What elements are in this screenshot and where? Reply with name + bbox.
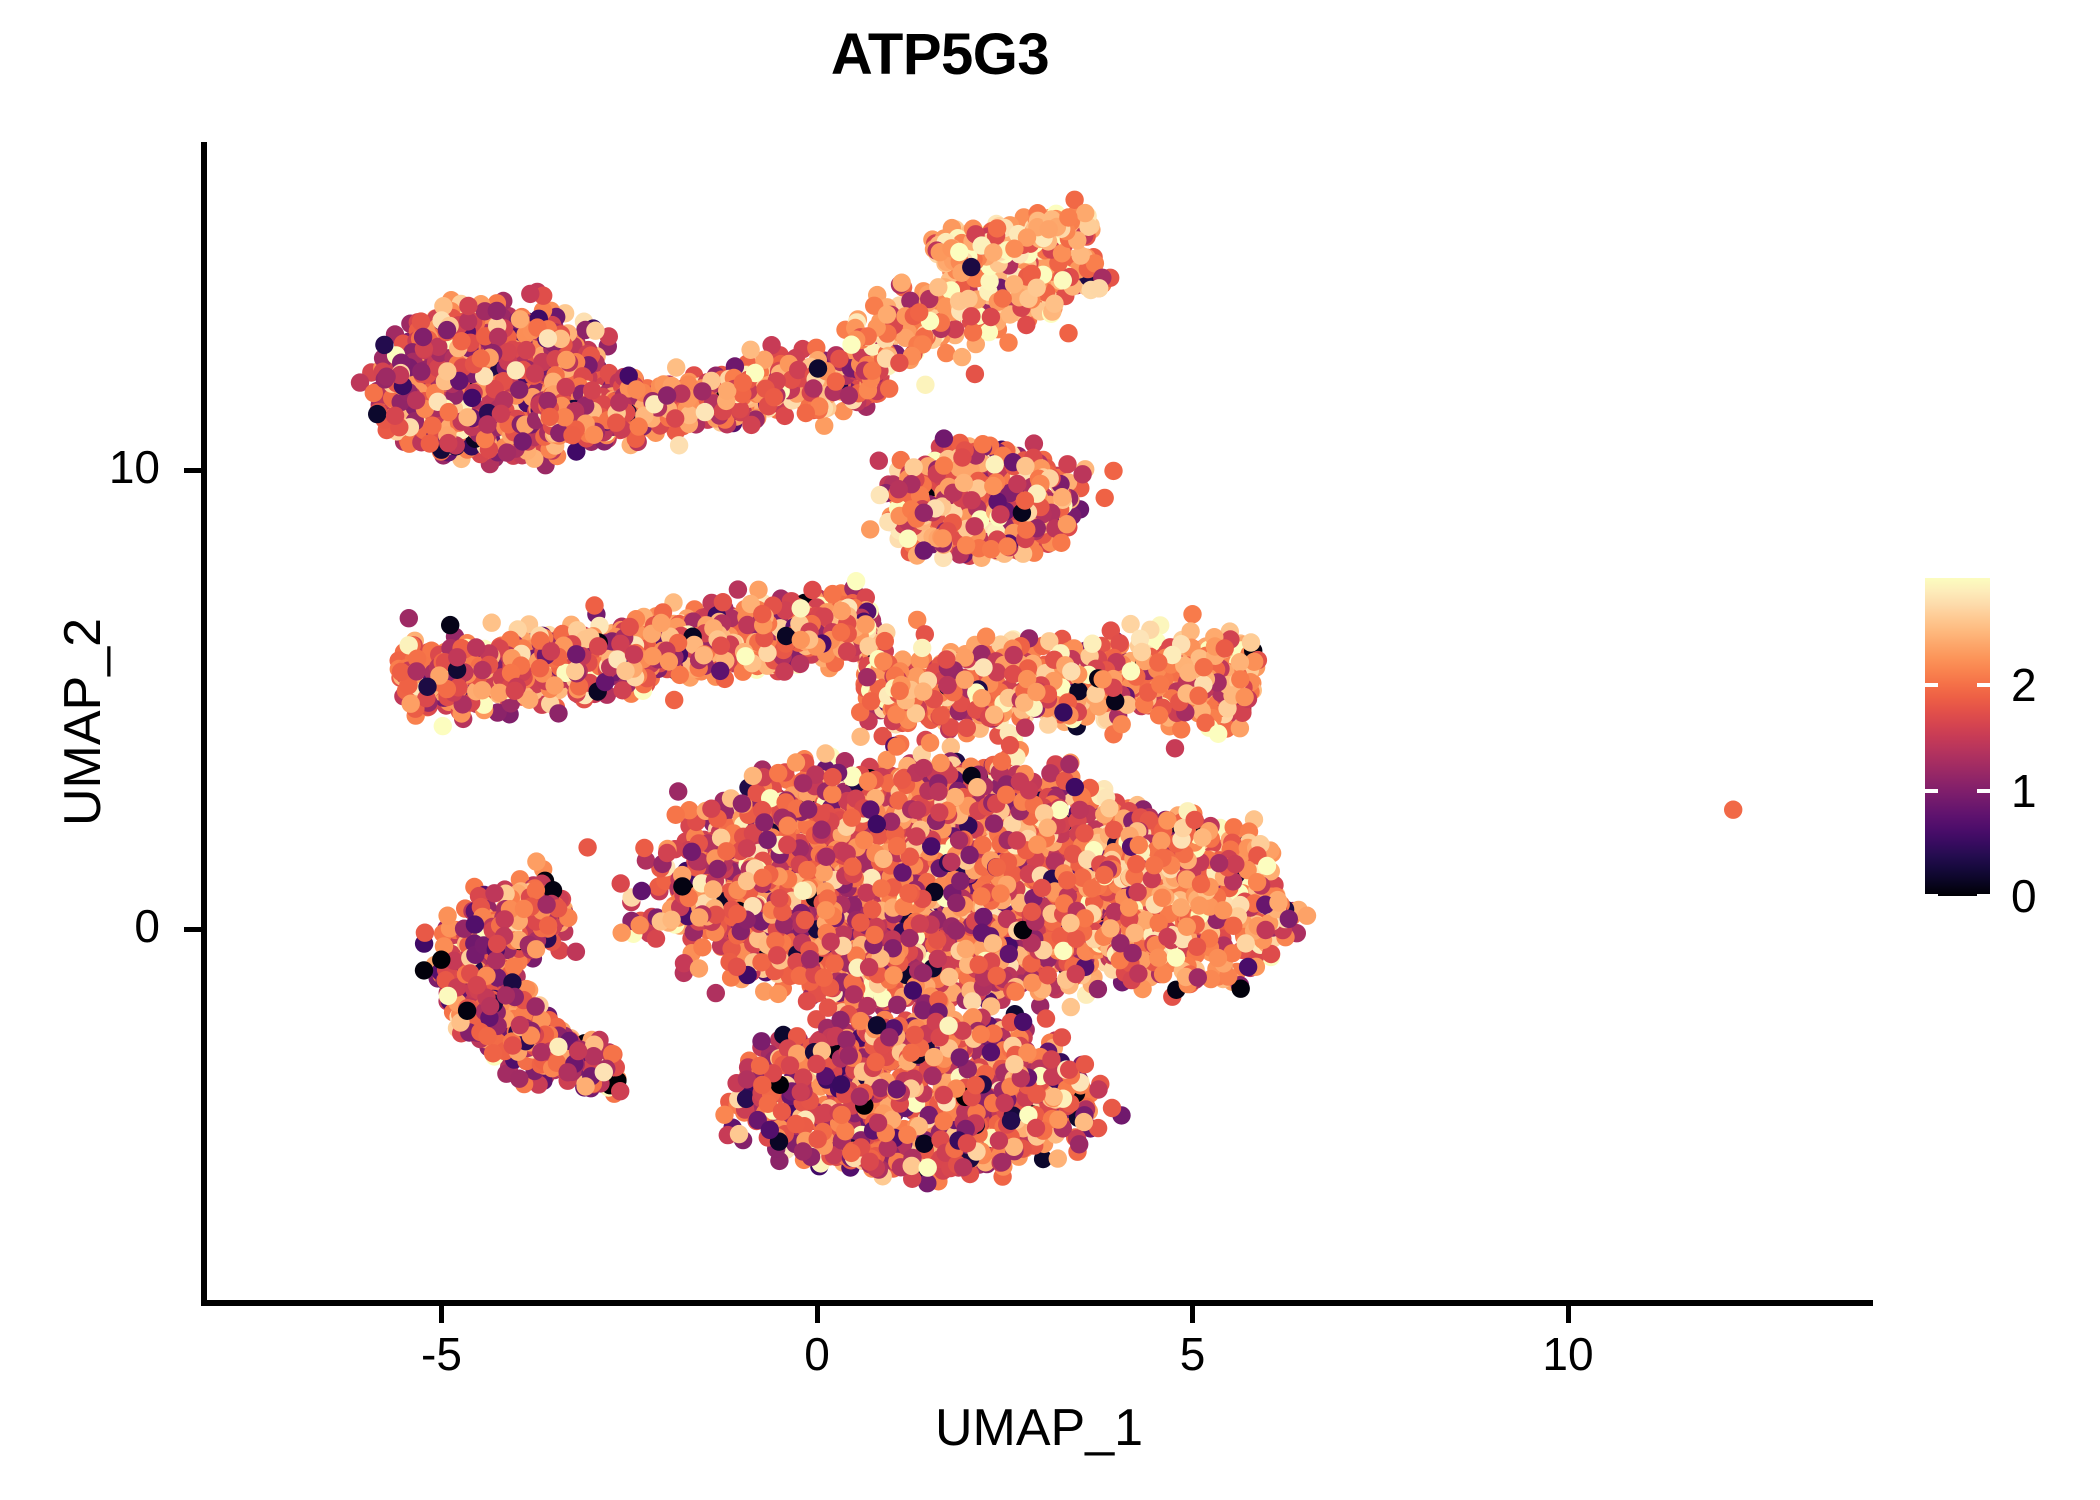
scatter-point	[741, 341, 759, 359]
scatter-point	[851, 728, 869, 746]
scatter-point	[627, 380, 645, 398]
scatter-point	[950, 243, 968, 261]
scatter-point	[514, 432, 532, 450]
scatter-point	[974, 658, 992, 676]
scatter-point	[473, 681, 491, 699]
scatter-point	[915, 541, 933, 559]
scatter-point	[871, 486, 889, 504]
scatter-point	[1094, 670, 1112, 688]
scatter-point	[1058, 455, 1076, 473]
scatter-point	[439, 434, 457, 452]
scatter-point	[789, 361, 807, 379]
scatter-point	[815, 417, 833, 435]
scatter-point	[1231, 653, 1249, 671]
scatter-point	[1235, 688, 1253, 706]
scatter-point	[832, 623, 850, 641]
scatter-point	[999, 333, 1017, 351]
scatter-point	[856, 615, 874, 633]
scatter-point	[962, 258, 980, 276]
umap-feature-plot: ATP5G3 -50510 100 UMAP_1 UMAP_2 210	[0, 0, 2100, 1500]
scatter-point	[964, 323, 982, 341]
scatter-point	[1076, 204, 1094, 222]
scatter-point	[982, 540, 1000, 558]
scatter-point	[412, 312, 430, 330]
plot-panel	[205, 142, 1873, 1303]
scatter-point	[932, 706, 950, 724]
scatter-point	[890, 480, 908, 498]
scatter-point	[643, 647, 661, 665]
scatter-point	[1058, 515, 1076, 533]
scatter-point	[905, 458, 923, 476]
scatter-point	[478, 415, 496, 433]
scatter-point	[1133, 643, 1151, 661]
scatter-point	[658, 386, 676, 404]
scatter-point	[652, 614, 670, 632]
scatter-point	[956, 671, 974, 689]
scatter-point	[876, 632, 894, 650]
scatter-point	[984, 477, 1002, 495]
scatter-point	[670, 436, 688, 454]
scatter-point	[1059, 324, 1077, 342]
scatter-point	[489, 328, 507, 346]
scatter-point	[377, 368, 395, 386]
scatter-point	[984, 243, 1002, 261]
scatter-point	[407, 391, 425, 409]
scatter-point	[375, 336, 393, 354]
scatter-point	[804, 379, 822, 397]
scatter-point	[541, 408, 559, 426]
scatter-point	[660, 652, 678, 670]
scatter-point	[729, 580, 747, 598]
scatter-point	[510, 381, 528, 399]
scatter-point	[842, 336, 860, 354]
scatter-point	[557, 378, 575, 396]
scatter-point	[467, 638, 485, 656]
scatter-point	[1027, 683, 1045, 701]
scatter-point	[847, 572, 865, 590]
scatter-point	[610, 393, 628, 411]
page-title: ATP5G3	[0, 26, 1880, 84]
scatter-point	[913, 639, 931, 657]
scatter-point	[621, 618, 639, 636]
scatter-point	[957, 536, 975, 554]
scatter-point	[441, 616, 459, 634]
scatter-point	[935, 429, 953, 447]
scatter-point	[880, 380, 898, 398]
scatter-point	[1166, 739, 1184, 757]
scatter-point	[962, 307, 980, 325]
scatter-point	[507, 361, 525, 379]
scatter-point	[988, 219, 1006, 237]
scatter-point	[589, 637, 607, 655]
scatter-point	[665, 691, 683, 709]
scatter-point	[1017, 520, 1035, 538]
scatter-point	[734, 374, 752, 392]
scatter-point	[973, 689, 991, 707]
scatter-point	[893, 274, 911, 292]
scatter-point	[498, 443, 516, 461]
scatter-point	[878, 305, 896, 323]
scatter-point	[563, 426, 581, 444]
scatter-point	[438, 362, 456, 380]
scatter-point	[1040, 220, 1058, 238]
scatter-point	[1090, 279, 1108, 297]
scatter-point	[797, 404, 815, 422]
scatter-point	[402, 695, 420, 713]
scatter-point	[1231, 670, 1249, 688]
scatter-point	[517, 341, 535, 359]
scatter-point	[1189, 687, 1207, 705]
scatter-point	[1113, 715, 1131, 733]
scatter-point	[458, 408, 476, 426]
scatter-point	[738, 616, 756, 634]
scatter-point	[736, 647, 754, 665]
scatter-point	[521, 285, 539, 303]
scatter-point	[488, 302, 506, 320]
scatter-point	[965, 517, 983, 535]
scatter-point	[1054, 271, 1072, 289]
scatter-point	[1072, 246, 1090, 264]
scatter-point	[1045, 295, 1063, 313]
scatter-point	[838, 642, 856, 660]
scatter-point	[953, 348, 971, 366]
scatter-point	[539, 392, 557, 410]
scatter-point	[1150, 706, 1168, 724]
scatter-point	[693, 382, 711, 400]
scatter-point	[914, 682, 932, 700]
scatter-point	[937, 650, 955, 668]
scatter-point	[483, 614, 501, 632]
scatter-point	[1195, 658, 1213, 676]
scatter-point	[966, 365, 984, 383]
scatter-point	[929, 278, 947, 296]
scatter-point	[418, 678, 436, 696]
scatter-point	[1053, 488, 1071, 506]
scatter-point	[827, 372, 845, 390]
scatter-point	[916, 376, 934, 394]
scatter-point	[585, 426, 603, 444]
scatter-point	[1017, 316, 1035, 334]
scatter-point	[1151, 675, 1169, 693]
scatter-point	[955, 474, 973, 492]
scatter-point	[863, 362, 881, 380]
scatter-point	[452, 332, 470, 350]
scatter-point	[472, 349, 490, 367]
scatter-point	[861, 520, 879, 538]
scatter-point	[545, 676, 563, 694]
scatter-point	[963, 491, 981, 509]
scatter-point	[695, 646, 713, 664]
scatter-point	[1122, 662, 1140, 680]
scatter-point	[583, 381, 601, 399]
scatter-point	[531, 659, 549, 677]
scatter-point	[915, 504, 933, 522]
scatter-point	[1149, 653, 1167, 671]
scatter-point	[792, 599, 810, 617]
scatter-point	[539, 329, 557, 347]
scatter-point	[1039, 715, 1057, 733]
scatter-point	[890, 354, 908, 372]
scatter-point	[792, 631, 810, 649]
scatter-point	[616, 662, 634, 680]
scatter-point	[765, 388, 783, 406]
scatter-point	[1059, 208, 1077, 226]
scatter-point	[899, 530, 917, 548]
scatter-point	[1073, 465, 1091, 483]
scatter-point	[874, 652, 892, 670]
scatter-point	[438, 321, 456, 339]
scatter-point	[526, 364, 544, 382]
scatter-point	[506, 682, 524, 700]
scatter-point	[511, 310, 529, 328]
scatter-point	[934, 529, 952, 547]
scatter-point	[549, 704, 567, 722]
scatter-point	[985, 706, 1003, 724]
scatter-point	[937, 344, 955, 362]
scatter-point	[1016, 491, 1034, 509]
scatter-point	[607, 414, 625, 432]
scatter-point	[1008, 475, 1026, 493]
scatter-point	[753, 605, 771, 623]
scatter-point	[1096, 489, 1114, 507]
scatter-point	[1005, 646, 1023, 664]
scatter-point	[412, 362, 430, 380]
scatter-point	[809, 359, 827, 377]
scatter-point	[586, 322, 604, 340]
scatter-point	[1054, 703, 1072, 721]
scatter-point	[1104, 462, 1122, 480]
scatter-point	[386, 407, 404, 425]
scatter-point	[400, 609, 418, 627]
scatter-point	[870, 452, 888, 470]
scatter-point	[858, 668, 876, 686]
scatter-point	[1242, 633, 1260, 651]
scatter-point	[566, 662, 584, 680]
scatter-point	[974, 435, 992, 453]
scatter-point	[423, 417, 441, 435]
scatter-point	[368, 405, 386, 423]
scatter-point	[1062, 662, 1080, 680]
scatter-point	[407, 662, 425, 680]
scatter-point	[1216, 639, 1234, 657]
scatter-points-layer	[205, 142, 1873, 1303]
scatter-point	[1172, 720, 1190, 738]
scatter-point	[448, 648, 466, 666]
scatter-point	[775, 662, 793, 680]
scatter-point	[463, 389, 481, 407]
scatter-point	[473, 661, 491, 679]
scatter-point	[953, 448, 971, 466]
scatter-point	[434, 717, 452, 735]
scatter-point	[910, 303, 928, 321]
scatter-point	[696, 403, 714, 421]
scatter-point	[1028, 279, 1046, 297]
scatter-point	[1209, 725, 1227, 743]
scatter-point	[1005, 240, 1023, 258]
scatter-point	[666, 409, 684, 427]
scatter-point	[1016, 457, 1034, 475]
scatter-point	[440, 403, 458, 421]
scatter-point	[421, 434, 439, 452]
scatter-point	[414, 328, 432, 346]
scatter-point	[711, 662, 729, 680]
scatter-point	[459, 297, 477, 315]
scatter-point	[840, 386, 858, 404]
scatter-point	[935, 456, 953, 474]
scatter-point	[998, 537, 1016, 555]
scatter-point	[667, 358, 685, 376]
scatter-point	[1052, 534, 1070, 552]
scatter-point	[1231, 719, 1249, 737]
scatter-point	[938, 676, 956, 694]
scatter-point	[833, 602, 851, 620]
scatter-point	[958, 719, 976, 737]
scatter-point	[1005, 275, 1023, 293]
scatter-point	[823, 585, 841, 603]
scatter-point	[1016, 719, 1034, 737]
scatter-point	[982, 308, 1000, 326]
scatter-point	[712, 637, 730, 655]
scatter-point	[959, 290, 977, 308]
scatter-point	[557, 351, 575, 369]
scatter-point	[630, 417, 648, 435]
scatter-point	[542, 642, 560, 660]
scatter-point	[1183, 605, 1201, 623]
scatter-point	[585, 596, 603, 614]
scatter-point	[862, 692, 880, 710]
scatter-point	[791, 655, 809, 673]
scatter-point	[803, 581, 821, 599]
scatter-point	[977, 628, 995, 646]
scatter-point	[891, 682, 909, 700]
scatter-point	[714, 593, 732, 611]
scatter-point	[1083, 635, 1101, 653]
scatter-point	[986, 455, 1004, 473]
scatter-point	[991, 505, 1009, 523]
scatter-point	[718, 382, 736, 400]
scatter-point	[567, 645, 585, 663]
scatter-point	[742, 416, 760, 434]
scatter-point	[625, 645, 643, 663]
